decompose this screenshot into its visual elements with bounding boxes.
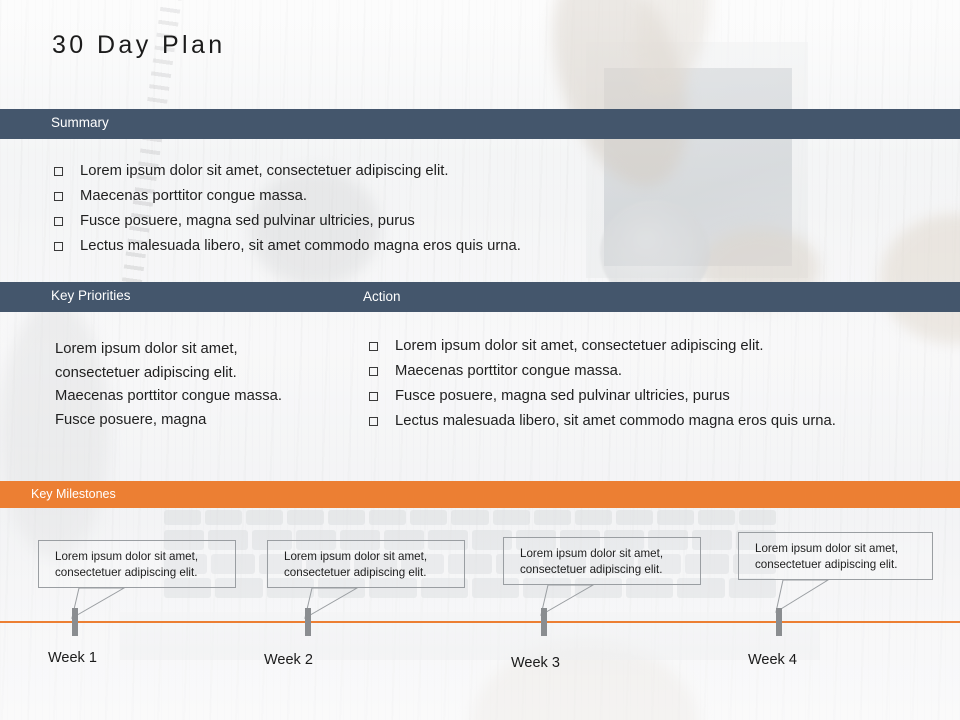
timeline-week-label: Week 1 [48, 650, 97, 666]
timeline-axis [0, 621, 960, 623]
timeline-week-label: Week 3 [511, 655, 560, 671]
timeline-marker [72, 608, 78, 636]
timeline-marker [541, 608, 547, 636]
timeline-marker [776, 608, 782, 636]
milestone-callout: Lorem ipsum dolor sit amet, consectetuer… [38, 540, 236, 588]
milestone-callout: Lorem ipsum dolor sit amet, consectetuer… [503, 537, 701, 585]
callout-tails [0, 0, 960, 720]
slide-canvas: 30 Day Plan Summary Lorem ipsum dolor si… [0, 0, 960, 720]
milestone-callout-text: Lorem ipsum dolor sit amet, consectetuer… [755, 541, 922, 573]
milestone-callout: Lorem ipsum dolor sit amet, consectetuer… [738, 532, 933, 580]
milestone-callout-text: Lorem ipsum dolor sit amet, consectetuer… [284, 549, 454, 581]
slide-content: 30 Day Plan Summary Lorem ipsum dolor si… [0, 0, 960, 720]
timeline-marker [305, 608, 311, 636]
milestone-callout-text: Lorem ipsum dolor sit amet, consectetuer… [520, 546, 690, 578]
milestone-callout-text: Lorem ipsum dolor sit amet, consectetuer… [55, 549, 225, 581]
timeline-week-label: Week 2 [264, 652, 313, 668]
timeline-week-label: Week 4 [748, 652, 797, 668]
milestone-callout: Lorem ipsum dolor sit amet, consectetuer… [267, 540, 465, 588]
